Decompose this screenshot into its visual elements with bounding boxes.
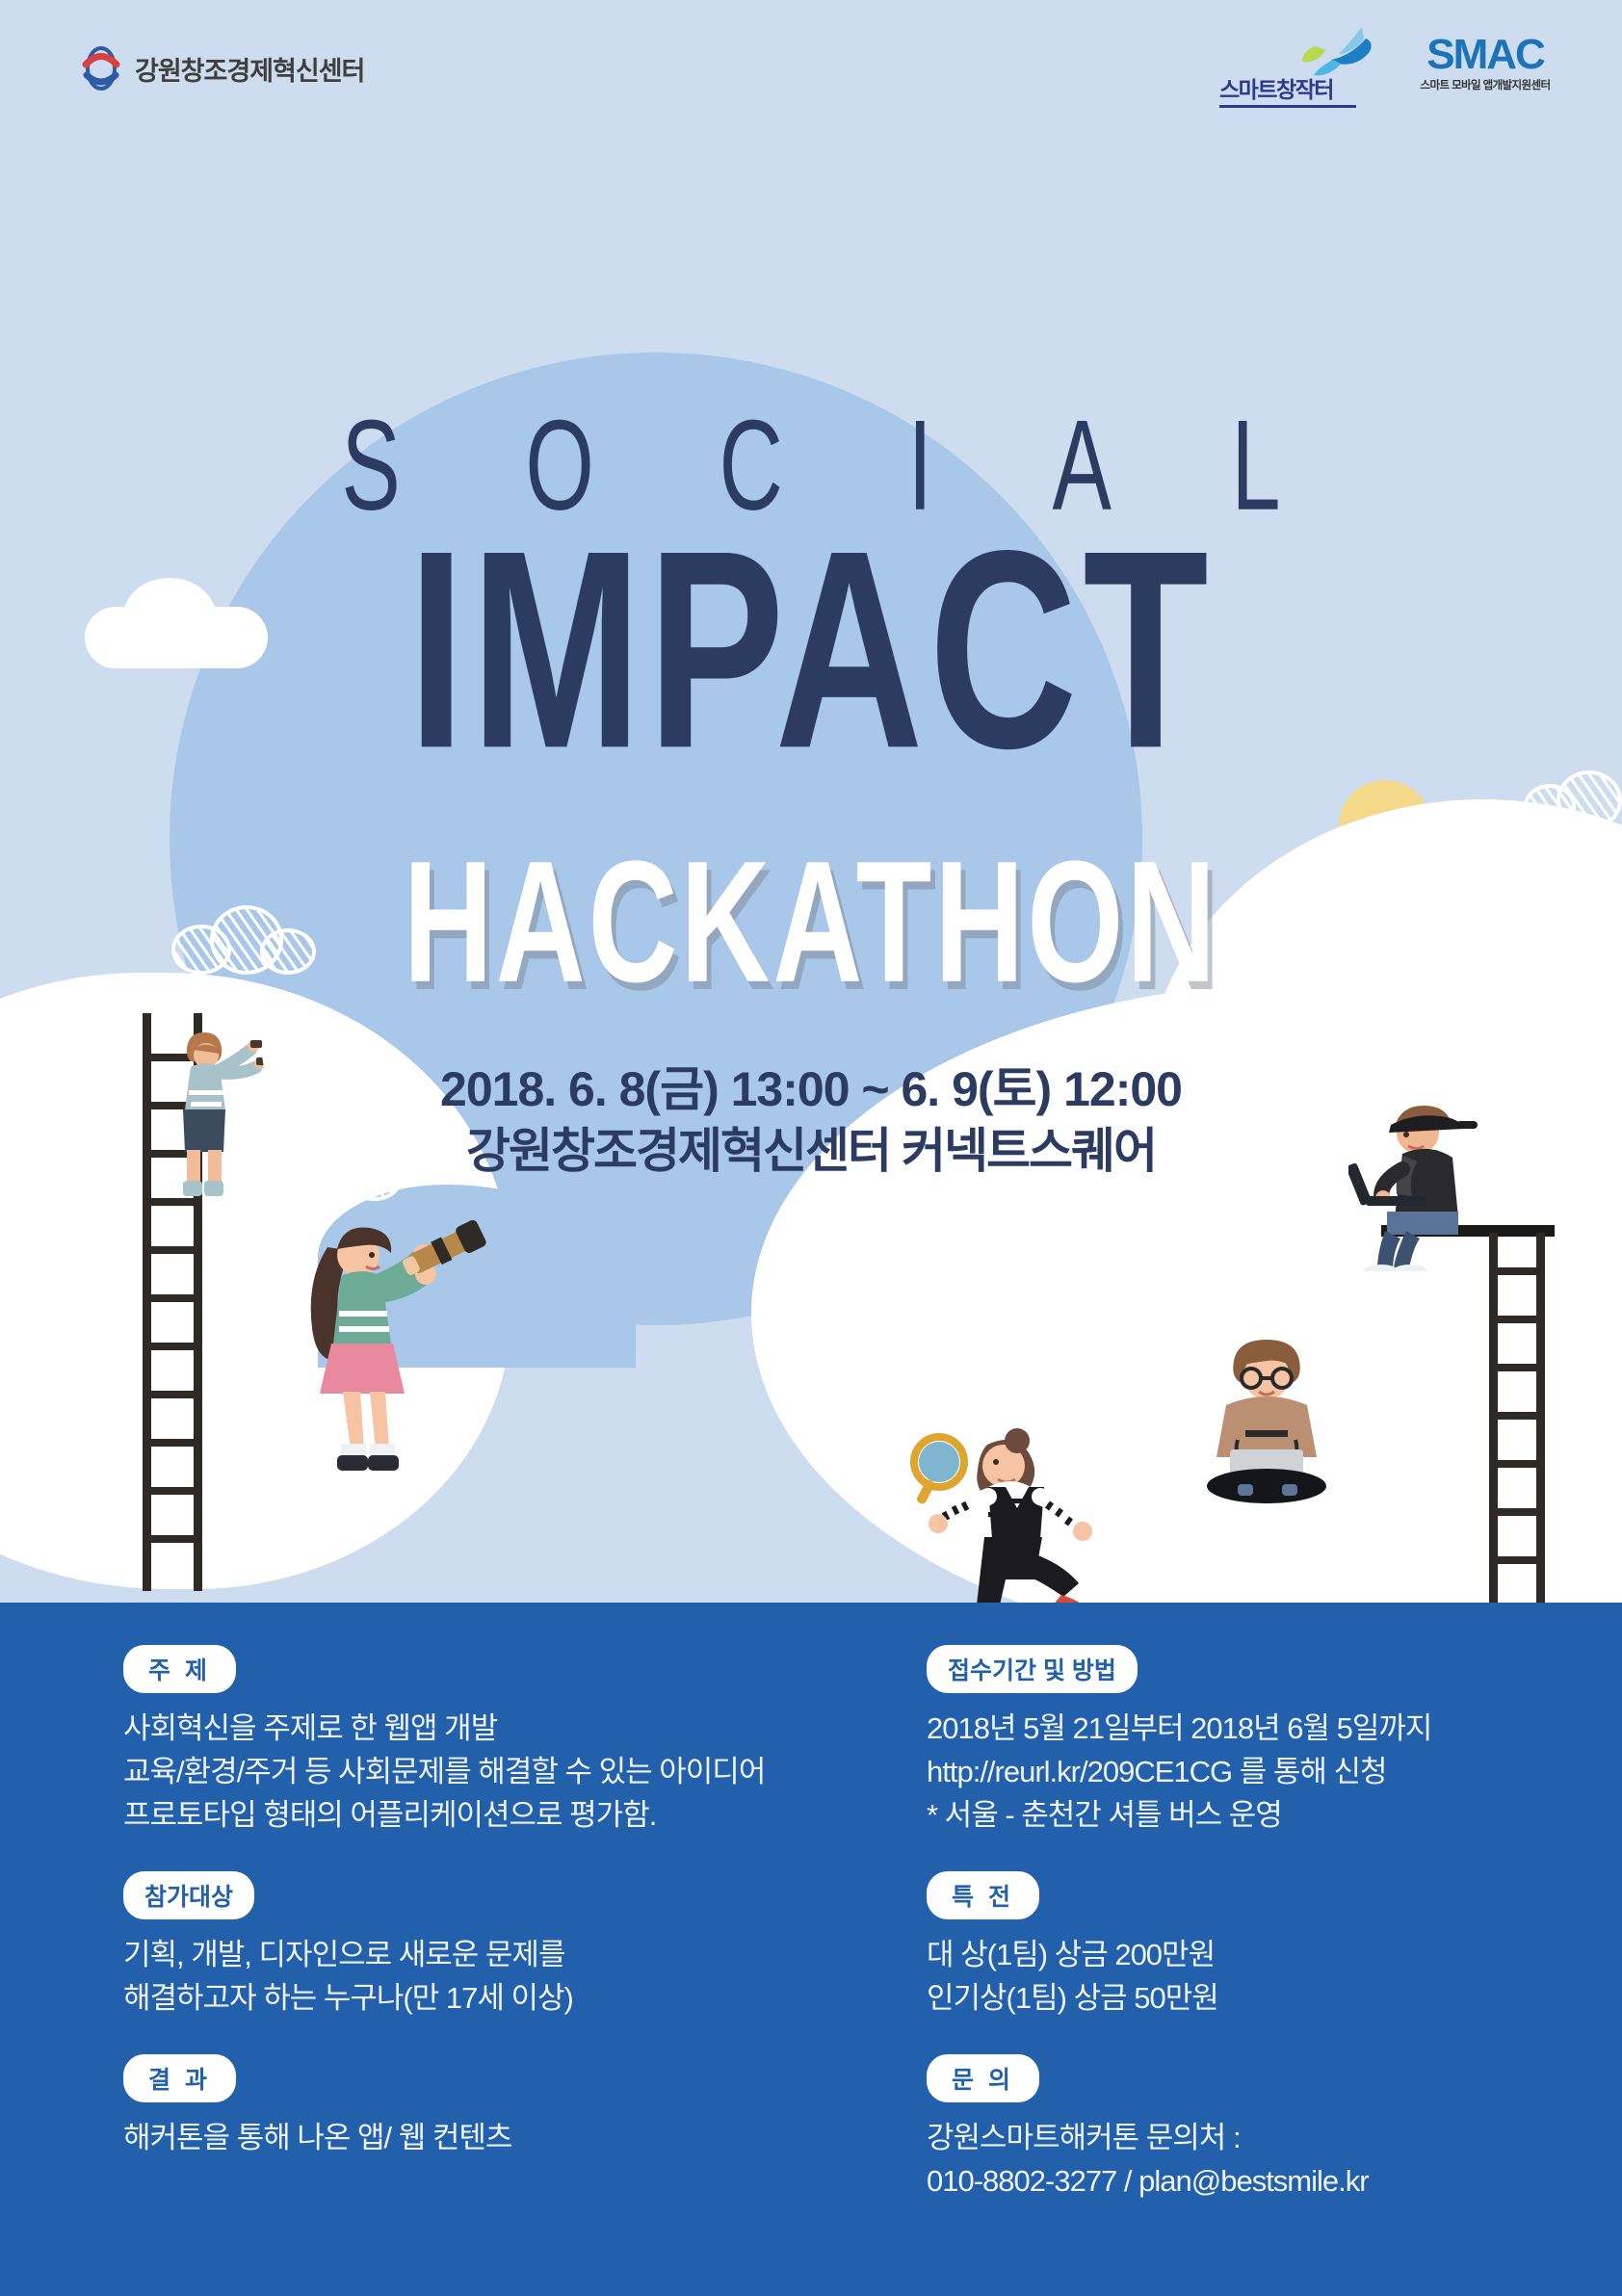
smac-wordmark: SMAC [1408, 33, 1562, 77]
smart-changjakteo-underline [1219, 105, 1356, 108]
smart-changjakteo-text: 스마트창작터 [1219, 71, 1333, 104]
smart-changjakteo-logo: 스마트창작터 [1219, 33, 1383, 106]
info-column-right: 접수기간 및 방법 2018년 5월 21일부터 2018년 6월 5일까지 h… [927, 1645, 1562, 2237]
title-impact: IMPACT [24, 501, 1597, 798]
event-date: 2018. 6. 8(금) 13:00 ~ 6. 9(토) 12:00 [0, 1059, 1622, 1119]
info-text-topic: 사회혁신을 주제로 한 웹앱 개발 교육/환경/주거 등 사회문제를 해결할 수… [123, 1707, 836, 1837]
logo-bar: 강원창조경제혁신센터 스마트창작터 SMAC 스마트 모바일 앱개발지원센터 [0, 0, 1622, 135]
info-text-result: 해커톤을 통해 나온 앱/ 웹 컨텐츠 [123, 2116, 836, 2159]
person-sitting-with-laptop [1170, 1334, 1363, 1507]
info-text-application: 2018년 5월 21일부터 2018년 6월 5일까지 http://reur… [927, 1707, 1562, 1837]
chip-application: 접수기간 및 방법 [927, 1645, 1138, 1693]
info-panel: 주 제 사회혁신을 주제로 한 웹앱 개발 교육/환경/주거 등 사회문제를 해… [0, 1603, 1622, 2296]
info-text-prizes: 대 상(1팀) 상금 200만원 인기상(1팀) 상금 50만원 [927, 1933, 1562, 2020]
event-venue: 강원창조경제혁신센터 커넥트스퀘어 [0, 1119, 1622, 1183]
person-with-telescope [258, 1209, 499, 1488]
info-block-prizes: 특 전 대 상(1팀) 상금 200만원 인기상(1팀) 상금 50만원 [927, 1871, 1562, 2020]
partner-logos: 스마트창작터 SMAC 스마트 모바일 앱개발지원센터 [1219, 33, 1562, 106]
gccei-logo: 강원창조경제혁신센터 [79, 46, 364, 91]
info-block-participants: 참가대상 기획, 개발, 디자인으로 새로운 문제를 해결하고자 하는 누구나(… [123, 1871, 836, 2020]
chip-result: 결 과 [123, 2054, 236, 2102]
event-datetime-block: 2018. 6. 8(금) 13:00 ~ 6. 9(토) 12:00 강원창조… [0, 1059, 1622, 1183]
info-text-contact: 강원스마트해커톤 문의처 : 010-8802-3277 / plan@best… [927, 2116, 1562, 2203]
smac-logo: SMAC 스마트 모바일 앱개발지원센터 [1408, 33, 1562, 106]
gccei-logo-text: 강원창조경제혁신센터 [135, 50, 364, 88]
chip-prizes: 특 전 [927, 1871, 1039, 1919]
gccei-mark-icon [79, 46, 123, 91]
smac-subtitle: 스마트 모바일 앱개발지원센터 [1408, 77, 1562, 92]
title-hackathon: HACKATHON [8, 828, 1613, 1014]
info-block-application: 접수기간 및 방법 2018년 5월 21일부터 2018년 6월 5일까지 h… [927, 1645, 1562, 1837]
person-running-with-magnifier [896, 1416, 1146, 1628]
info-block-result: 결 과 해커톤을 통해 나온 앱/ 웹 컨텐츠 [123, 2054, 836, 2159]
chip-contact: 문 의 [927, 2054, 1039, 2102]
ladder-right [1489, 1233, 1545, 1618]
chip-participants: 참가대상 [123, 1871, 254, 1919]
info-block-contact: 문 의 강원스마트해커톤 문의처 : 010-8802-3277 / plan@… [927, 2054, 1562, 2203]
info-column-left: 주 제 사회혁신을 주제로 한 웹앱 개발 교육/환경/주거 등 사회문제를 해… [123, 1645, 836, 2194]
poster-root: 강원창조경제혁신센터 스마트창작터 SMAC 스마트 모바일 앱개발지원센터 S… [0, 0, 1622, 2296]
chip-topic: 주 제 [123, 1645, 236, 1693]
info-text-participants: 기획, 개발, 디자인으로 새로운 문제를 해결하고자 하는 누구나(만 17세… [123, 1933, 836, 2020]
info-block-topic: 주 제 사회혁신을 주제로 한 웹앱 개발 교육/환경/주거 등 사회문제를 해… [123, 1645, 836, 1837]
